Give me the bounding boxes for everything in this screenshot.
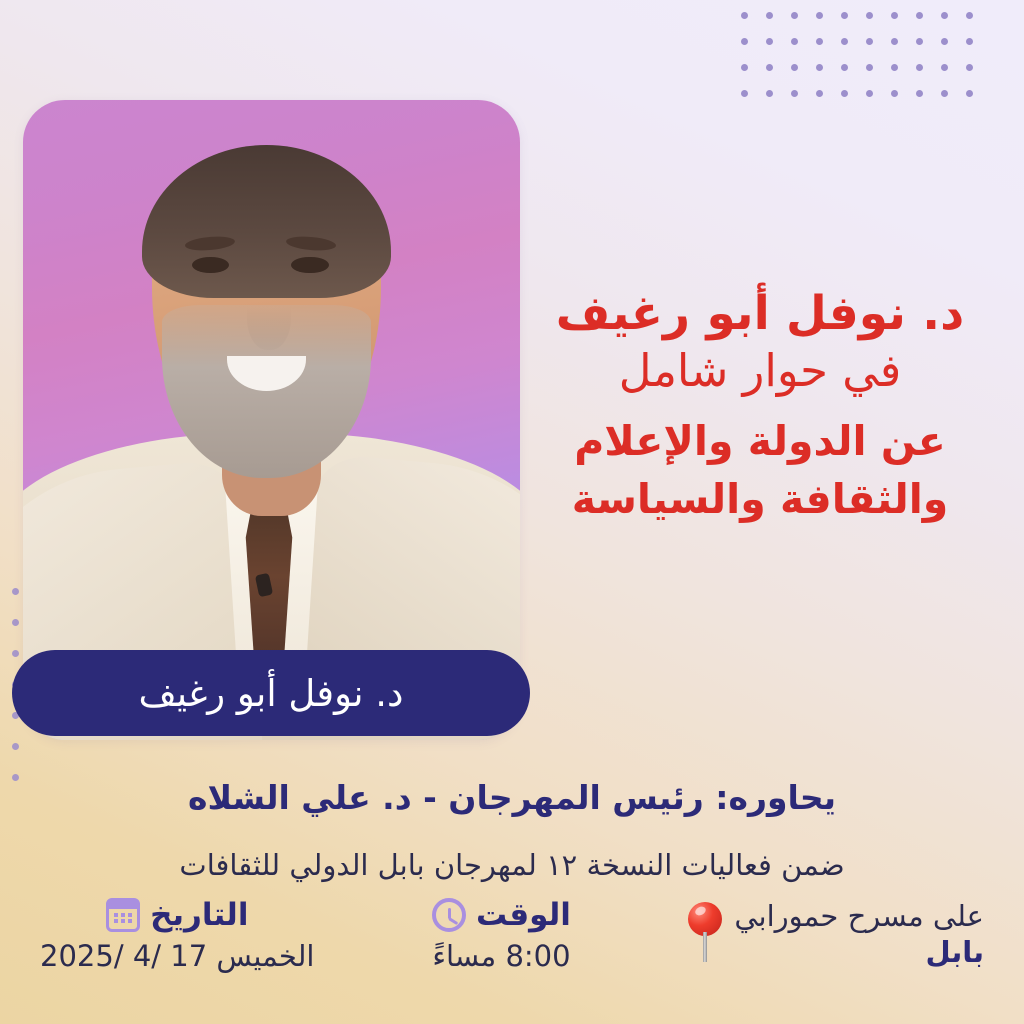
dot — [941, 12, 948, 19]
dot — [766, 12, 773, 19]
headline-block: د. نوفل أبو رغيف في حوار شامل عن الدولة … — [530, 286, 990, 529]
dot — [966, 38, 973, 45]
dot — [816, 90, 823, 97]
info-column-date: التاريخ الخميس 17 /4 /2025 — [40, 898, 315, 974]
event-poster: د. نوفل أبو رغيف د. نوفل أبو رغيف في حوا… — [0, 0, 1024, 1024]
portrait-eye-right — [291, 257, 328, 274]
pushpin-head — [688, 902, 722, 936]
dot — [816, 12, 823, 19]
dot — [866, 38, 873, 45]
dot — [841, 12, 848, 19]
dot — [12, 588, 19, 595]
dot — [891, 12, 898, 19]
headline-topics-line-1: عن الدولة والإعلام — [530, 412, 990, 470]
clock-icon — [432, 898, 466, 932]
speaker-name-badge: د. نوفل أبو رغيف — [12, 650, 530, 736]
speaker-name-badge-label: د. نوفل أبو رغيف — [138, 675, 403, 712]
dot — [941, 90, 948, 97]
dot — [741, 12, 748, 19]
dot — [941, 38, 948, 45]
dot — [12, 650, 19, 657]
dot — [966, 12, 973, 19]
speaker-photo-card — [23, 100, 520, 740]
dot — [916, 64, 923, 71]
dot — [966, 64, 973, 71]
dot — [841, 90, 848, 97]
dot — [916, 90, 923, 97]
dot — [741, 64, 748, 71]
pushpin-needle — [703, 932, 707, 962]
dot — [891, 64, 898, 71]
info-column-location: على مسرح حمورابي بابل — [688, 898, 984, 971]
festival-line: ضمن فعاليات النسخة ١٢ لمهرجان بابل الدول… — [0, 848, 1024, 882]
dot — [841, 38, 848, 45]
dot — [916, 38, 923, 45]
decorative-dot-grid — [723, 12, 973, 116]
headline-subtitle: في حوار شامل — [530, 341, 990, 402]
dot — [966, 90, 973, 97]
dot — [916, 12, 923, 19]
time-heading: الوقت — [432, 898, 571, 932]
date-heading: التاريخ — [106, 898, 248, 932]
dot — [941, 64, 948, 71]
dot — [816, 64, 823, 71]
calendar-icon-dots — [113, 913, 133, 923]
dot — [866, 64, 873, 71]
dot — [741, 38, 748, 45]
location-city: بابل — [925, 934, 984, 970]
dot — [816, 38, 823, 45]
dot — [12, 743, 19, 750]
dot — [791, 64, 798, 71]
time-title: الوقت — [476, 898, 571, 932]
dot — [791, 38, 798, 45]
headline-topics-line-2: والثقافة والسياسة — [530, 470, 990, 528]
dot — [791, 90, 798, 97]
dot — [766, 64, 773, 71]
moderator-line: يحاوره: رئيس المهرجان - د. علي الشلاه — [0, 778, 1024, 817]
dot — [12, 619, 19, 626]
date-value: الخميس 17 /4 /2025 — [40, 938, 315, 974]
portrait-hair — [142, 145, 391, 299]
dot — [841, 64, 848, 71]
dot — [866, 90, 873, 97]
dot — [766, 38, 773, 45]
time-value: 8:00 مساءً — [432, 938, 570, 974]
speaker-portrait-image — [23, 100, 520, 740]
headline-speaker-name: د. نوفل أبو رغيف — [530, 286, 990, 341]
dot — [741, 90, 748, 97]
round-pushpin-icon — [688, 902, 722, 964]
dot — [891, 38, 898, 45]
dot — [891, 90, 898, 97]
location-venue: على مسرح حمورابي — [734, 898, 984, 934]
location-text-block: على مسرح حمورابي بابل — [734, 898, 984, 971]
info-column-time: الوقت 8:00 مساءً — [411, 898, 591, 974]
dot — [866, 12, 873, 19]
event-info-row: التاريخ الخميس 17 /4 /2025 الوقت 8:00 مس… — [40, 898, 984, 1018]
calendar-icon — [106, 898, 140, 932]
date-title: التاريخ — [150, 898, 248, 932]
calendar-icon-header — [109, 901, 137, 909]
dot — [791, 12, 798, 19]
dot — [766, 90, 773, 97]
